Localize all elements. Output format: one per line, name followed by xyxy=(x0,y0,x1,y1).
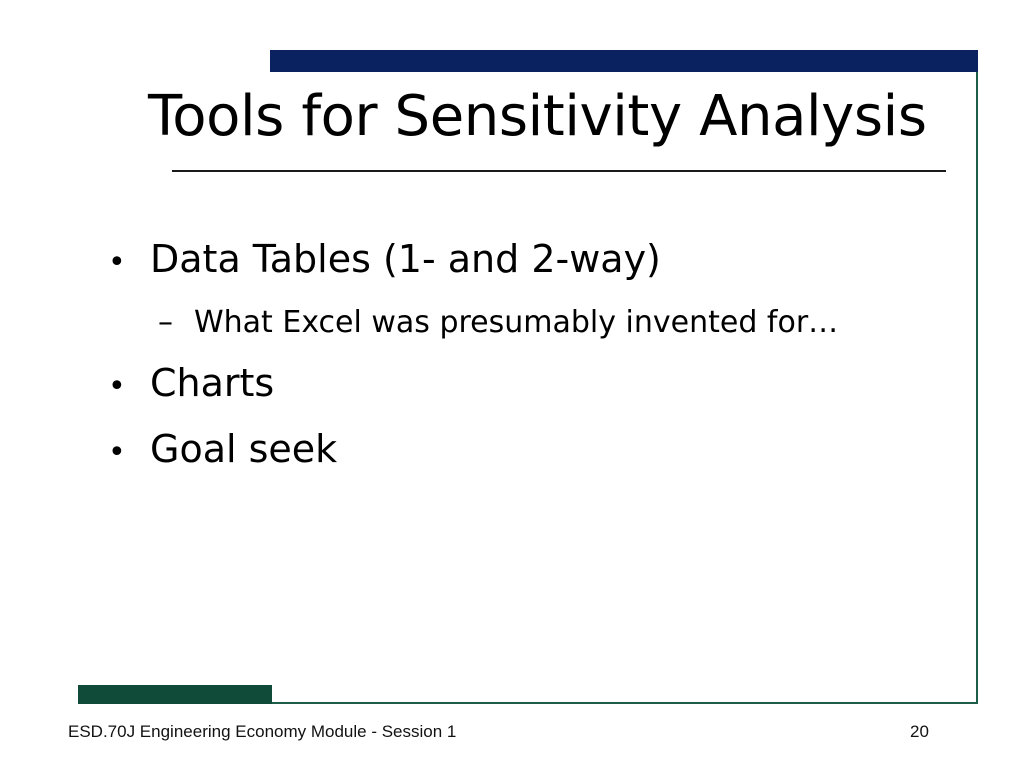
green-footer-bar xyxy=(78,685,272,704)
sub-list-item: – What Excel was presumably invented for… xyxy=(158,294,958,352)
bullet-list: • Data Tables (1- and 2-way) – What Exce… xyxy=(108,228,958,484)
title-divider xyxy=(172,170,946,172)
slide-canvas: Tools for Sensitivity Analysis • Data Ta… xyxy=(0,0,1024,768)
bullet-marker-icon: • xyxy=(108,355,150,418)
frame-right-border xyxy=(976,72,978,704)
navy-header-bar xyxy=(270,50,978,72)
list-item-label: Charts xyxy=(150,352,274,415)
list-item: • Charts xyxy=(108,352,958,418)
list-item-label: Goal seek xyxy=(150,418,337,481)
bullet-marker-icon: • xyxy=(108,231,150,294)
frame-bottom-border xyxy=(271,702,978,704)
page-number: 20 xyxy=(910,721,929,743)
list-item: • Goal seek xyxy=(108,418,958,484)
list-item: • Data Tables (1- and 2-way) xyxy=(108,228,958,294)
page-title: Tools for Sensitivity Analysis xyxy=(148,86,948,148)
dash-marker-icon: – xyxy=(158,294,194,352)
list-item-label: Data Tables (1- and 2-way) xyxy=(150,228,661,291)
bullet-marker-icon: • xyxy=(108,421,150,484)
sub-list-item-label: What Excel was presumably invented for… xyxy=(194,294,838,352)
footer-label: ESD.70J Engineering Economy Module - Ses… xyxy=(68,721,456,743)
